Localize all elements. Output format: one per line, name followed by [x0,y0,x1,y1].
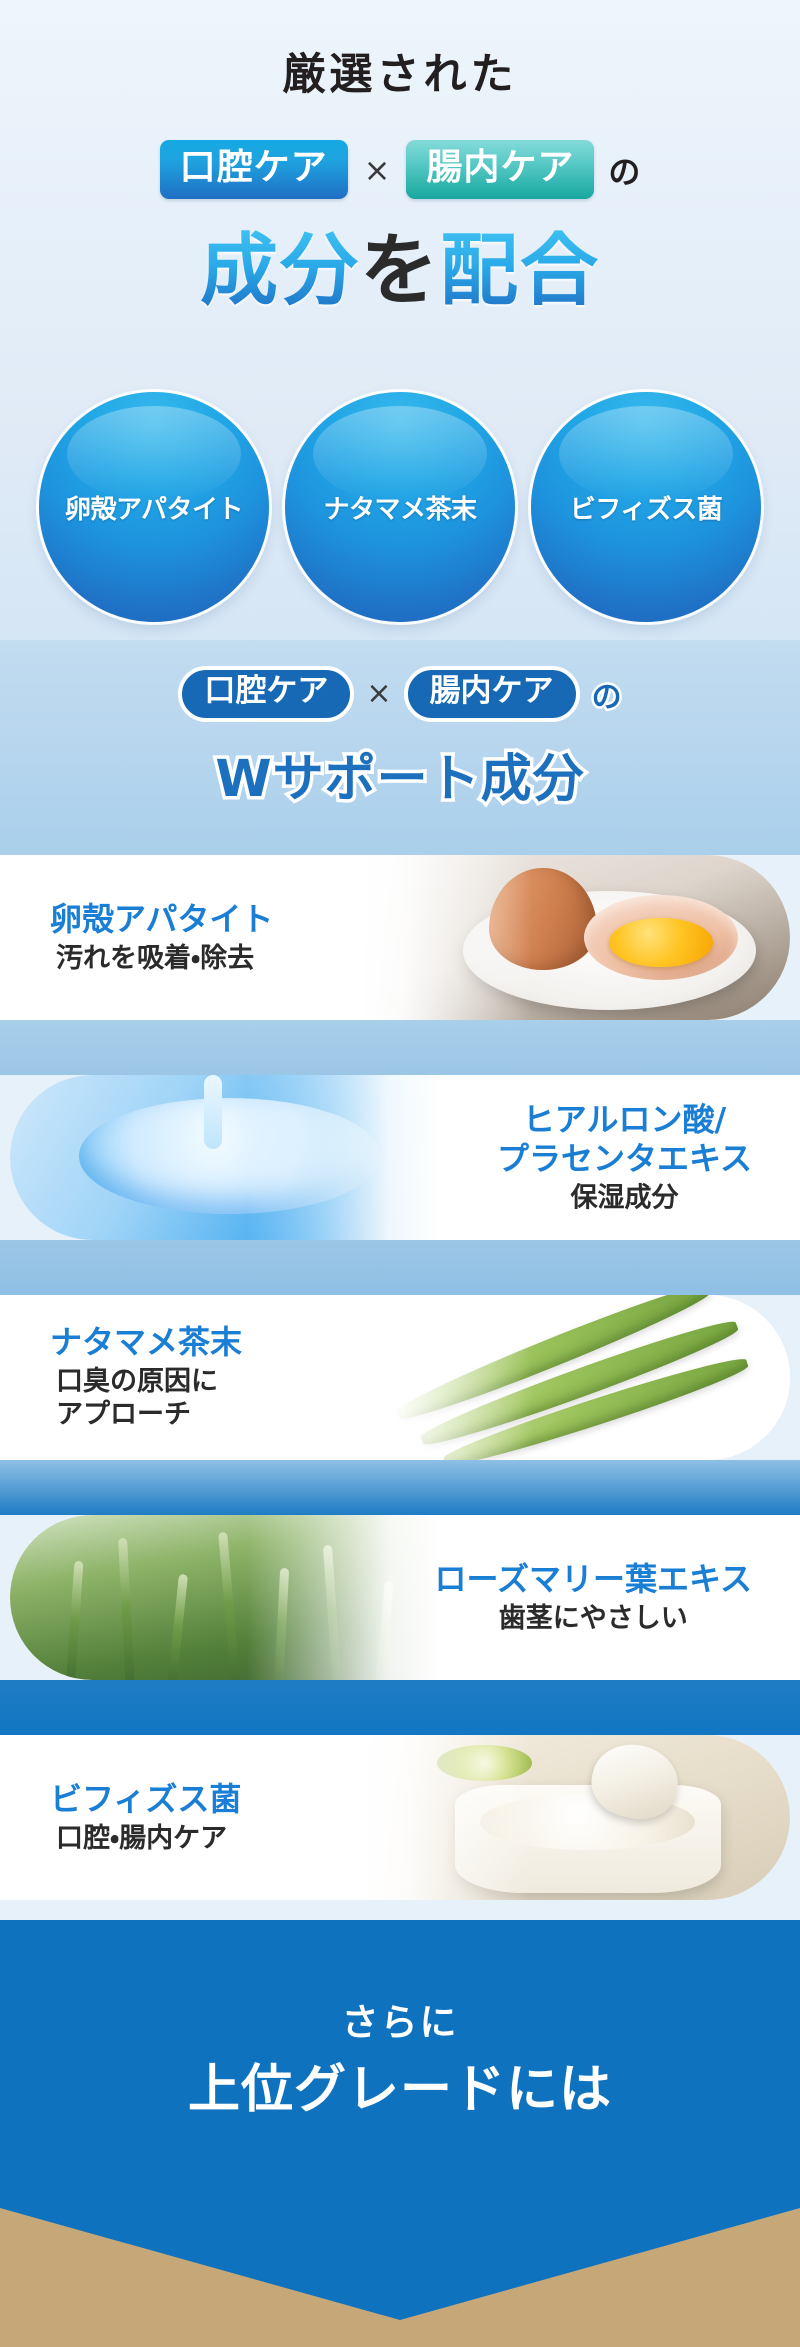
headline-part-1: 成分 [200,226,360,316]
bubble-label: ナタマメ茶末 [323,489,476,526]
sword-bean-photo [360,1295,790,1460]
card-text: ビフィズス菌 口腔・腸内ケア [50,1780,241,1856]
w-suffix: の [592,672,622,716]
w-pill-gut-care: 腸内ケア [404,666,580,722]
ingredient-name: ビフィズス菌 [50,1780,241,1819]
footer-line-1: さらに [0,1992,800,2046]
card-gap [0,1240,800,1295]
ingredient-desc: 歯茎にやさしい [435,1602,752,1636]
card-sword-bean-tea: ナタマメ茶末 口臭の原因に アプローチ [0,1295,800,1460]
gel-photo [10,1075,440,1240]
hero-pill-row: 口腔ケア × 腸内ケア の [0,140,800,199]
card-text: ローズマリー葉エキス 歯茎にやさしい [435,1560,752,1636]
pill-gut-care: 腸内ケア [406,140,594,199]
bubble-bifidobacteria: ビフィズス菌 [531,392,761,622]
page-title: 厳選された [0,40,800,102]
pill-oral-care: 口腔ケア [160,140,348,199]
bubble-sword-bean-tea: ナタマメ茶末 [285,392,515,622]
ingredient-name: 卵殻アパタイト [50,900,273,939]
ingredient-bubbles: 卵殻アパタイト ナタマメ茶末 ビフィズス菌 [0,392,800,622]
bubble-label: ビフィズス菌 [570,489,722,526]
card-text: ナタマメ茶末 口臭の原因に アプローチ [50,1323,242,1433]
w-support-section: 口腔ケア × 腸内ケア の Wサポート成分 [0,640,800,855]
bubble-label: 卵殻アパタイト [65,489,243,526]
times-icon: × [366,676,391,711]
card-gap [0,1020,800,1075]
ingredient-desc: 口臭の原因に アプローチ [56,1365,242,1433]
times-icon: × [362,151,393,189]
card-bifidobacteria: ビフィズス菌 口腔・腸内ケア [0,1735,800,1900]
hero-headline: 成分を配合 [0,232,800,310]
ingredient-name: ナタマメ茶末 [50,1323,242,1362]
w-support-subtitle: Wサポート成分 [0,737,800,811]
card-rosemary-leaf-extract: ローズマリー葉エキス 歯茎にやさしい [0,1515,800,1680]
egg-photo [360,855,790,1020]
card-hyaluronic-placenta: ヒアルロン酸/ プラセンタエキス 保湿成分 [0,1075,800,1240]
headline-part-3: 配合 [440,226,600,316]
infographic-page: 厳選された 口腔ケア × 腸内ケア の 成分を配合 卵殻アパタイト ナタマメ茶末… [0,0,800,2347]
bubble-eggshell-apatite: 卵殻アパタイト [39,392,269,622]
footer-section: さらに 上位グレードには [0,1920,800,2347]
card-text: 卵殻アパタイト 汚れを吸着・除去 [50,900,273,976]
card-gap [0,1460,800,1515]
w-support-pill-row: 口腔ケア × 腸内ケア の [0,666,800,722]
rosemary-photo [10,1515,440,1680]
w-pill-oral-care: 口腔ケア [178,666,354,722]
ingredient-desc: 保湿成分 [497,1181,752,1215]
hero-section: 厳選された 口腔ケア × 腸内ケア の 成分を配合 卵殻アパタイト ナタマメ茶末… [0,0,800,640]
footer-line-2: 上位グレードには [0,2047,800,2122]
ingredient-desc: 汚れを吸着・除去 [56,942,273,976]
yogurt-photo [360,1735,790,1900]
ingredient-desc: 口腔・腸内ケア [56,1822,241,1856]
card-gap [0,1680,800,1735]
hero-suffix: の [608,147,640,193]
card-eggshell-apatite: 卵殻アパタイト 汚れを吸着・除去 [0,855,800,1020]
ingredient-name: ローズマリー葉エキス [435,1560,752,1599]
card-text: ヒアルロン酸/ プラセンタエキス 保湿成分 [497,1100,752,1215]
headline-part-2: を [360,226,440,316]
ingredient-name: ヒアルロン酸/ プラセンタエキス [497,1100,752,1178]
ingredient-cards: 卵殻アパタイト 汚れを吸着・除去 ヒアルロン酸/ プラセンタエキス 保湿成分 [0,855,800,1920]
